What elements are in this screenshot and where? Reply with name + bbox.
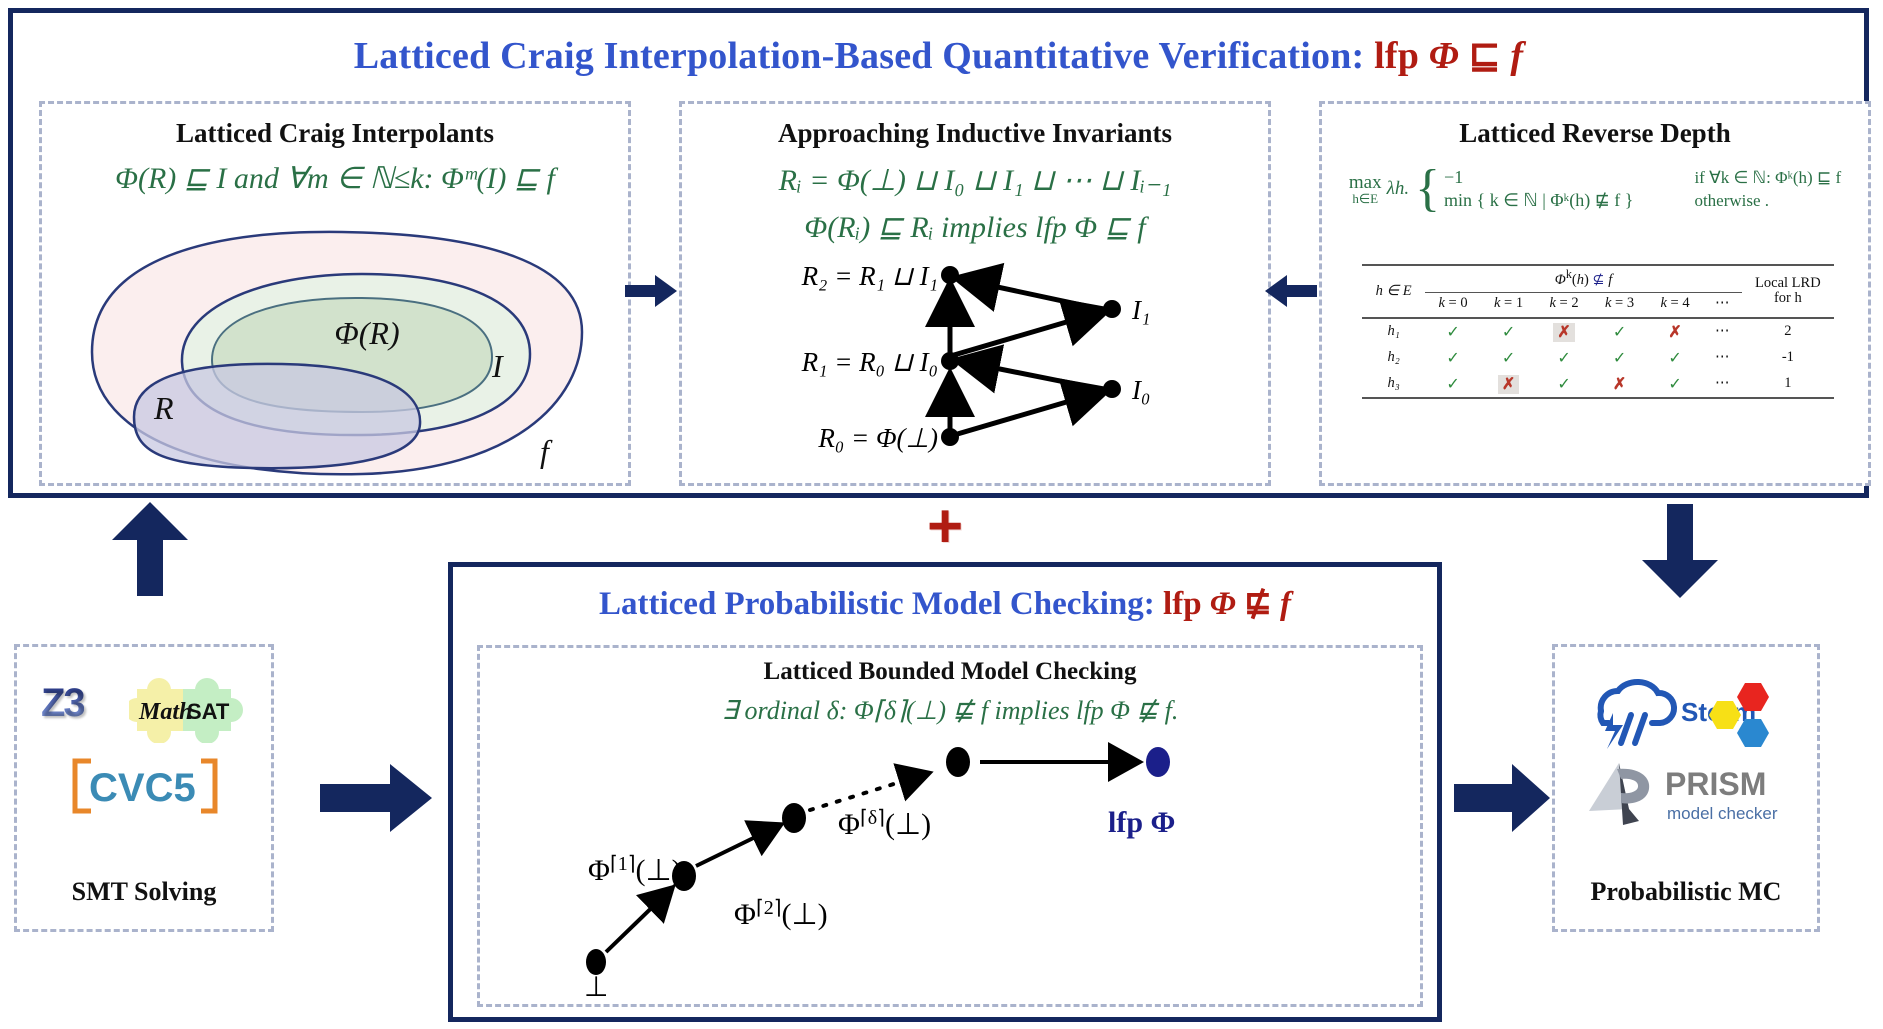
quantitative-verification-section: Latticed Craig Interpolation-Based Quant… [8,8,1869,498]
venn-label-I: I [491,348,504,384]
arrow-smt-to-bmc [318,760,434,836]
venn-label-R: R [153,390,174,426]
lrd-col-lrd-line2: for h [1750,291,1826,306]
panel-approaching-inductive-invariants: Approaching Inductive Invariants Rᵢ = Φ(… [679,101,1271,486]
lrd-case2-cond: otherwise . [1693,189,1842,212]
lrd-mark-check: ✓ [1481,318,1537,345]
mathsat-logo-sat: SAT [187,699,230,724]
lrd-mark-check: ✓ [1425,371,1481,398]
lrd-max: max [1349,173,1382,192]
smt-caption: SMT Solving [17,877,271,907]
cvc5-logo: CVC5 [69,755,221,817]
bmc-label-lfp: lfp Φ [1108,806,1175,839]
venn-label-f: f [540,433,553,469]
top-title-lfp: lfp [1374,35,1419,77]
lrd-table-row: h₂✓✓✓✓✓⋯-1 [1362,345,1834,371]
chain-node-label-I0: I₀ [1131,375,1150,405]
prism-logo-text: PRISM [1665,766,1766,802]
lrd-mark-check: ✓ [1647,371,1703,398]
lrd-k-header: k = 2 [1536,292,1592,318]
invariant-chain-diagram: R₂ = R₁ ⊔ I₁ R₁ = R₀ ⊔ I₀ R₀ = Φ(⊥) I₁ I… [692,239,1264,479]
mid-title-relation: ⋢ [1244,586,1272,622]
top-section-title: Latticed Craig Interpolation-Based Quant… [13,33,1864,78]
lrd-table-row: h₃✓✗✓✗✓⋯1 [1362,371,1834,398]
lrd-table-container: h ∈ E Φk(h) ⊈ f Local LRD for h k = 0k =… [1362,264,1834,399]
plus-symbol: + [927,500,963,554]
panel4-formula: ∃ ordinal δ: Φ⌈δ⌉(⊥) ⋢ f implies lfp Φ ⋢… [480,696,1420,726]
lrd-formula: max h∈E λh. { −1 if ∀k ∈ ℕ: Φᵏ(h) ⊑ f mi… [1322,166,1868,212]
lrd-table-body: h₁✓✓✗✓✗⋯2h₂✓✓✓✓✓⋯-1h₃✓✗✓✗✓⋯1 [1362,318,1834,398]
venn-region-R [134,364,420,468]
venn-label-phiR: Φ(R) [334,315,399,351]
top-title-f: f [1510,35,1523,77]
chain-node-label-I1: I₁ [1131,295,1150,325]
lrd-lambda: λh. [1386,166,1414,212]
lrd-mark-check: ✓ [1647,345,1703,371]
bmc-chain-diagram: ⊥ Φ⌈1⌉(⊥) Φ⌈2⌉(⊥) Φ⌈δ⌉(⊥) lfp Φ [488,734,1418,996]
lrd-row-h: h₃ [1362,371,1425,398]
mid-title-phi: Φ [1210,586,1236,622]
lrd-mark-check: ✓ [1536,371,1592,398]
mathsat-logo-math: Math [138,699,192,725]
bmc-label-bottom: ⊥ [584,972,608,996]
arrow-panel1-to-panel2 [623,268,679,314]
panel2-heading: Approaching Inductive Invariants [682,118,1268,149]
panel3-heading: Latticed Reverse Depth [1322,118,1868,149]
lrd-k-header: ⋯ [1703,292,1742,318]
lrd-k-header: k = 3 [1592,292,1648,318]
mid-section-title: Latticed Probabilistic Model Checking: l… [453,583,1437,623]
bmc-label-step2: Φ⌈2⌉(⊥) [734,897,828,931]
lrd-mark-check: ✓ [1536,345,1592,371]
lrd-case1-value: −1 [1443,166,1693,189]
lrd-row-value: 1 [1742,371,1834,398]
lrd-mark-check: ✓ [1481,345,1537,371]
lrd-table: h ∈ E Φk(h) ⊈ f Local LRD for h k = 0k =… [1362,264,1834,399]
top-title-relation: ⊑ [1469,35,1501,77]
panel1-heading: Latticed Craig Interpolants [42,118,628,149]
lrd-mark-check: ✓ [1425,345,1481,371]
arrow-verification-to-prob-mc [1640,500,1720,600]
lrd-mark-cross: ✗ [1592,371,1648,398]
mid-title-f: f [1280,586,1291,622]
lrd-case1-cond: if ∀k ∈ ℕ: Φᵏ(h) ⊑ f [1693,166,1842,189]
storm-logo: Storm [1577,673,1803,753]
top-title-phi: Φ [1429,35,1459,77]
chain-node-label-R1: R₁ = R₀ ⊔ I₀ [801,347,938,377]
chain-node-label-R2: R₂ = R₁ ⊔ I₁ [801,261,938,291]
lrd-row-h: h₁ [1362,318,1425,345]
cvc5-logo-text: CVC5 [89,766,196,810]
arrow-panel3-to-panel2 [1263,268,1319,314]
arrow-smt-to-verification [110,500,190,600]
venn-diagram: Φ(R) I R f [62,202,618,478]
arrow-bmc-to-prob-mc [1452,760,1552,836]
lrd-row-value: -1 [1742,345,1834,371]
lrd-row-h: h₂ [1362,345,1425,371]
prism-logo: PRISM model checker [1577,759,1803,833]
z3-logo: Z3 [41,681,84,726]
prism-logo-subtext: model checker [1667,804,1778,823]
panel2-formula-1: Rᵢ = Φ(⊥) ⊔ I₀ ⊔ I₁ ⊔ ⋯ ⊔ Iᵢ₋₁ [682,163,1268,198]
lrd-mark-cross: ✗ [1647,318,1703,345]
bmc-label-step1: Φ⌈1⌉(⊥) [588,853,682,887]
lrd-span-header: Φk(h) ⊈ f [1555,272,1612,288]
lrd-k-header: k = 4 [1647,292,1703,318]
bmc-label-step-delta: Φ⌈δ⌉(⊥) [838,807,931,841]
smt-solving-box: Z3 Math SAT CVC5 SMT Solving [14,644,274,932]
top-title-text: Latticed Craig Interpolation-Based Quant… [354,35,1365,77]
lrd-case2-value: min { k ∈ ℕ | Φᵏ(h) ⋢ f } [1443,189,1693,212]
chain-node-label-R0: R₀ = Φ(⊥) [817,423,938,453]
panel1-formula: Φ(R) ⊑ I and ∀m ∈ ℕ≤k: Φᵐ(I) ⊑ f [42,161,628,196]
lrd-col-h: h ∈ E [1362,265,1425,318]
lrd-mark-ellipsis: ⋯ [1703,345,1742,371]
mid-title-lfp: lfp [1163,586,1202,622]
lrd-mark-cross-highlighted: ✗ [1481,371,1537,398]
lrd-table-row: h₁✓✓✗✓✗⋯2 [1362,318,1834,345]
panel-latticed-reverse-depth: Latticed Reverse Depth max h∈E λh. { −1 … [1319,101,1871,486]
lrd-mark-check: ✓ [1592,345,1648,371]
lrd-row-value: 2 [1742,318,1834,345]
probabilistic-mc-box: Storm PRISM model checker Probabilistic … [1552,644,1820,932]
lrd-k-header: k = 1 [1481,292,1537,318]
lrd-mark-check: ✓ [1592,318,1648,345]
lrd-mark-check: ✓ [1425,318,1481,345]
panel-latticed-craig-interpolants: Latticed Craig Interpolants Φ(R) ⊑ I and… [39,101,631,486]
lrd-max-sub: h∈E [1349,192,1382,206]
panel4-heading: Latticed Bounded Model Checking [480,658,1420,686]
lrd-mark-cross-highlighted: ✗ [1536,318,1592,345]
mid-title-text: Latticed Probabilistic Model Checking: [599,586,1155,622]
prob-caption: Probabilistic MC [1555,877,1817,907]
lrd-mark-ellipsis: ⋯ [1703,318,1742,345]
lrd-mark-ellipsis: ⋯ [1703,371,1742,398]
panel-latticed-bounded-model-checking: Latticed Bounded Model Checking ∃ ordina… [477,645,1423,1007]
probabilistic-model-checking-section: Latticed Probabilistic Model Checking: l… [448,562,1442,1022]
lrd-k-header: k = 0 [1425,292,1481,318]
lrd-col-lrd-line1: Local LRD [1750,276,1826,291]
mathsat-logo: Math SAT [129,677,253,743]
